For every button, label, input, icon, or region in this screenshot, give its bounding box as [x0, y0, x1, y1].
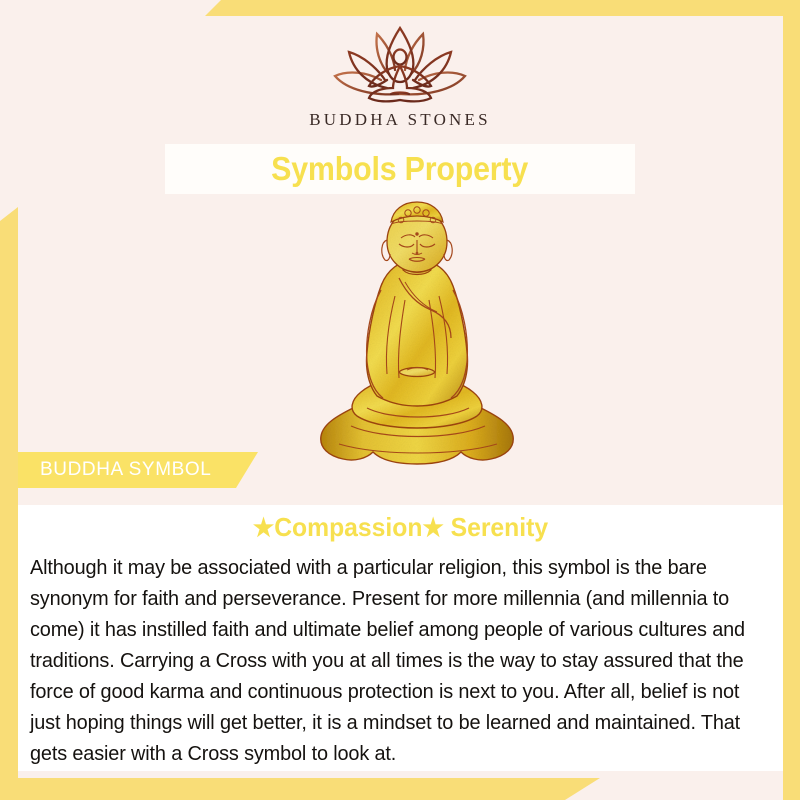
seated-golden-buddha-statue-icon	[295, 200, 540, 490]
title-band: Symbols Property	[165, 144, 635, 194]
poster-canvas: BUDDHA STONES Symbols Property	[0, 0, 800, 800]
star-icon-middle: ★	[422, 514, 443, 542]
lotus-meditation-figure-icon	[315, 22, 485, 108]
brand-logo-block: BUDDHA STONES	[0, 22, 800, 130]
description-paragraph: Although it may be associated with a par…	[30, 552, 750, 769]
decor-bar-bottom	[0, 778, 600, 800]
brand-name: BUDDHA STONES	[0, 110, 800, 130]
attribute-serenity: Serenity	[451, 512, 548, 542]
page-title: Symbols Property	[272, 150, 529, 188]
section-ribbon-label: BUDDHA SYMBOL	[18, 459, 211, 481]
section-ribbon-buddha-symbol: BUDDHA SYMBOL	[18, 452, 258, 488]
decor-bar-top	[205, 0, 800, 16]
decor-bar-left	[0, 207, 18, 800]
star-icon-left: ★	[253, 514, 274, 542]
attribute-compassion: Compassion	[274, 512, 422, 542]
hero-image	[295, 200, 540, 490]
attributes-headline: ★Compassion★ Serenity	[37, 512, 764, 543]
